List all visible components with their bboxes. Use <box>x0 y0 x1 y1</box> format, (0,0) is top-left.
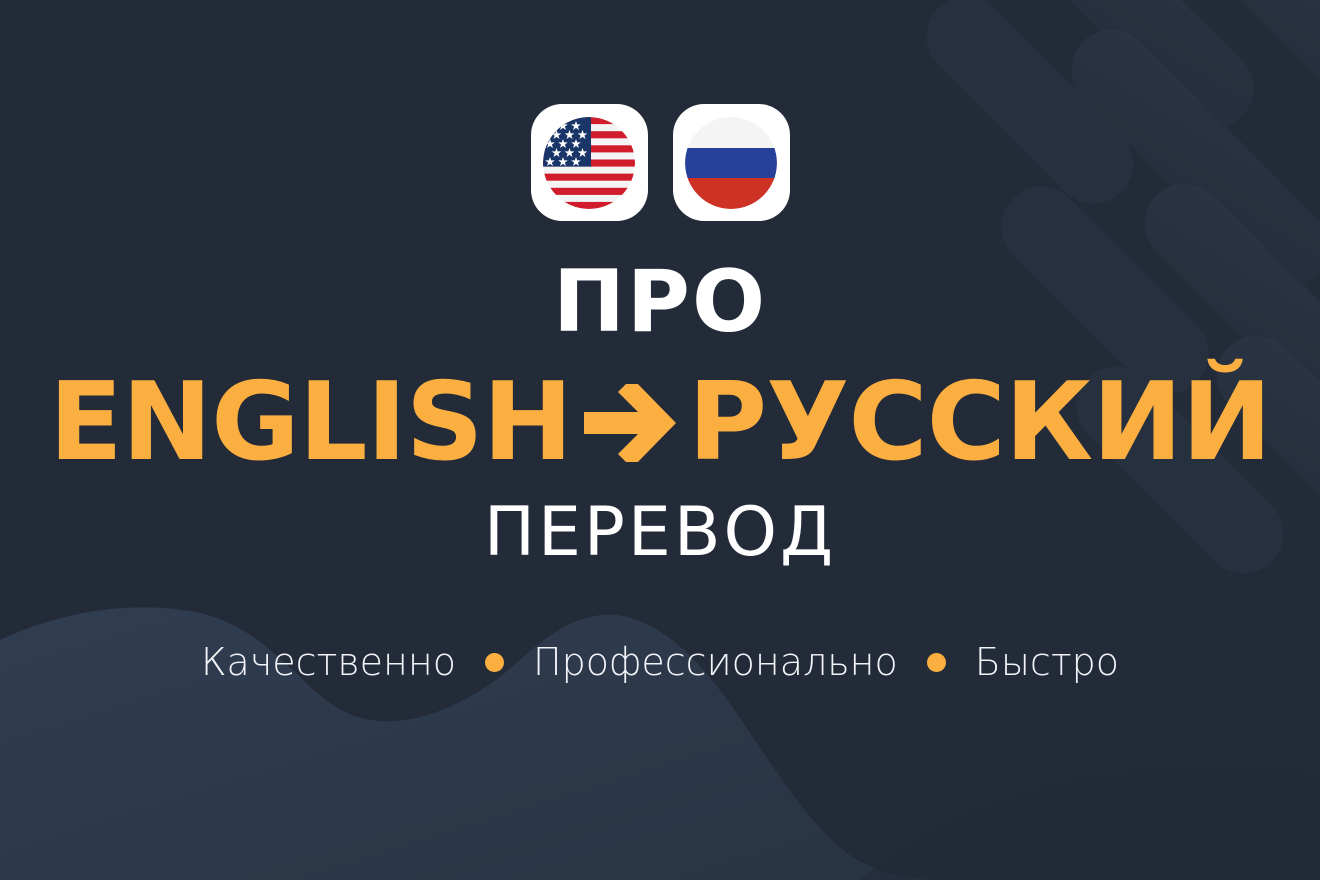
arrow-right-icon <box>572 369 688 477</box>
bullet-dot-icon <box>485 653 504 672</box>
russia-flag-icon <box>685 117 777 209</box>
tagline-item-2: Профессионально <box>533 643 898 681</box>
russia-flag-tile <box>673 104 790 221</box>
page-title: ENGLISH РУССКИЙ <box>49 369 1271 477</box>
translation-service-banner: ПРО ENGLISH РУССКИЙ ПЕРЕВОД Качественно … <box>0 0 1320 880</box>
usa-flag-icon <box>543 117 635 209</box>
source-language-label: ENGLISH <box>49 369 572 477</box>
usa-flag-tile <box>531 104 648 221</box>
flag-pair <box>531 104 790 221</box>
page-eyebrow: ПРО <box>553 259 767 345</box>
target-language-label: РУССКИЙ <box>688 369 1271 477</box>
banner-content: ПРО ENGLISH РУССКИЙ ПЕРЕВОД Качественно … <box>0 0 1320 880</box>
tagline-item-1: Качественно <box>201 643 456 681</box>
tagline: Качественно Профессионально Быстро <box>201 643 1119 681</box>
page-subtitle: ПЕРЕВОД <box>484 499 836 567</box>
bullet-dot-icon <box>927 653 946 672</box>
tagline-item-3: Быстро <box>975 643 1119 681</box>
